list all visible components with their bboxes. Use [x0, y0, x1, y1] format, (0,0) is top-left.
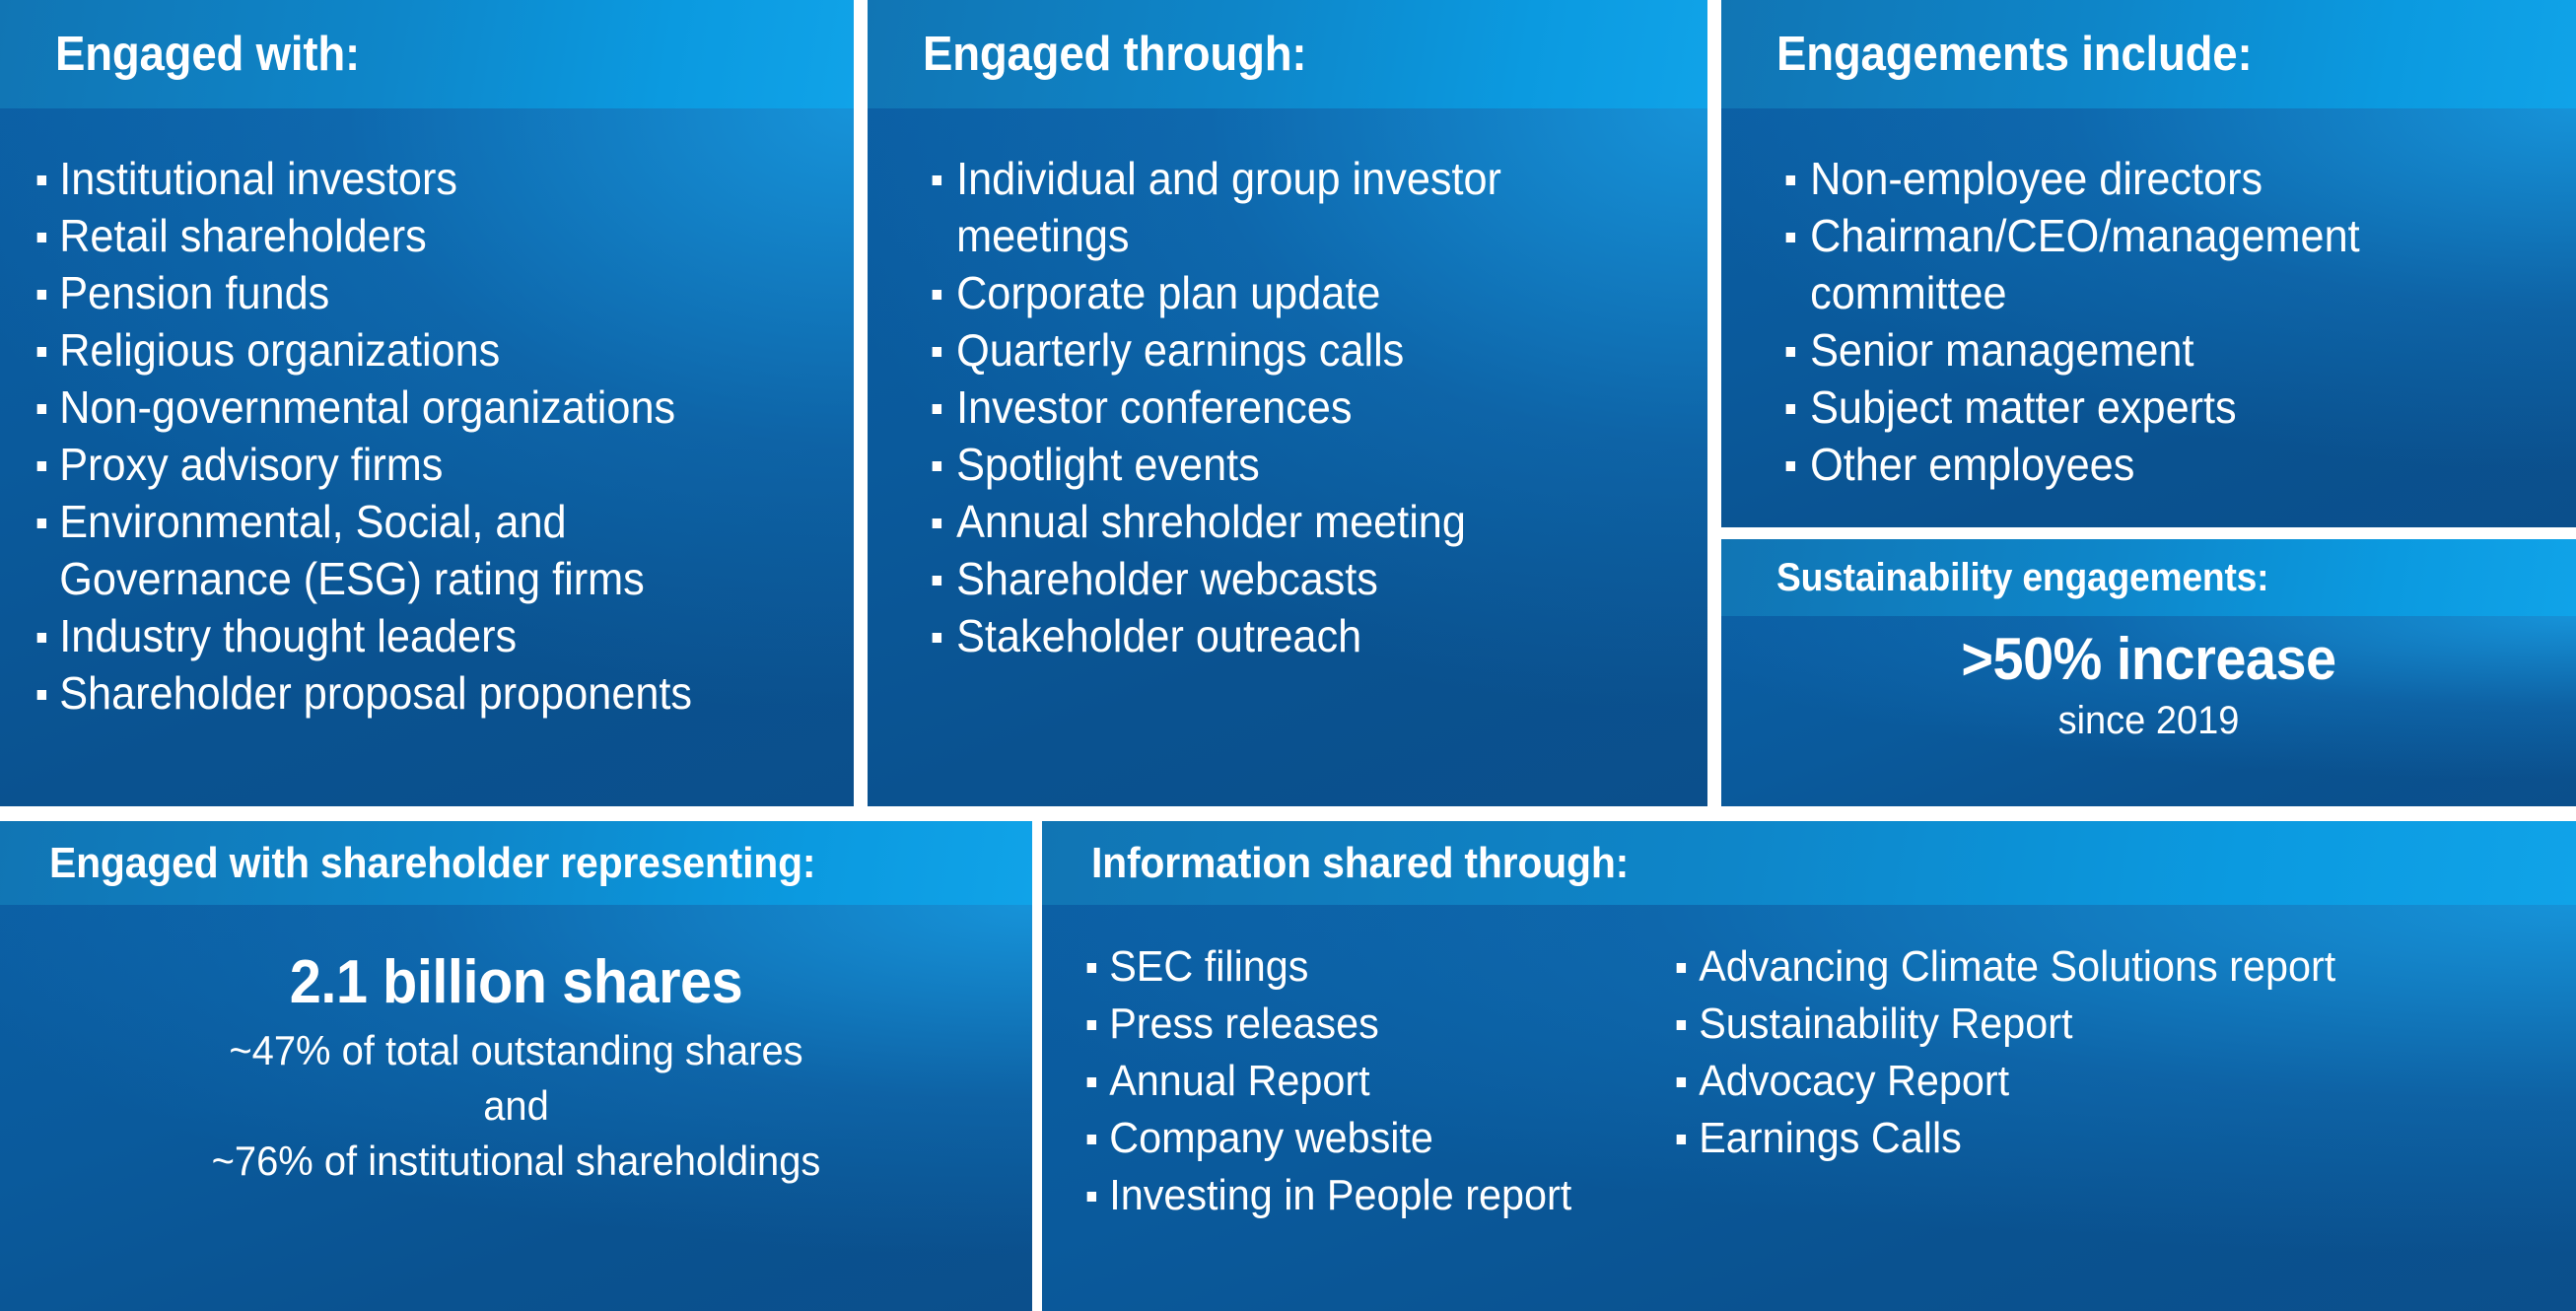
panel-engaged-through: Engaged through: Individual and group in… — [868, 0, 1707, 806]
list-item: SEC filings — [1081, 938, 1636, 996]
panel-header-information-shared: Information shared through: — [1042, 821, 2576, 905]
list-item: Earnings Calls — [1671, 1110, 2468, 1167]
list-item: Spotlight events — [927, 436, 1636, 493]
panel-title-engaged-with: Engaged with: — [55, 27, 360, 82]
list-item: Shareholder proposal proponents — [32, 664, 781, 722]
list-item: Company website — [1081, 1110, 1636, 1167]
list-item: Senior management — [1780, 321, 2515, 379]
list-item: Annual Report — [1081, 1053, 1636, 1110]
list-item: Environmental, Social, and Governance (E… — [32, 493, 781, 607]
list-item: Sustainability Report — [1671, 996, 2468, 1053]
list-item: Chairman/CEO/management committee — [1780, 207, 2515, 321]
list-item: Advocacy Report — [1671, 1053, 2468, 1110]
infographic-board: Engaged with: Institutional investors Re… — [0, 0, 2576, 1311]
list-item: Pension funds — [32, 264, 781, 321]
shares-stat-value: 2.1 billion shares — [36, 942, 997, 1023]
panel-header-sustainability: Sustainability engagements: — [1721, 539, 2576, 616]
panel-header-engaged-with: Engaged with: — [0, 0, 854, 108]
panel-engaged-with: Engaged with: Institutional investors Re… — [0, 0, 854, 806]
list-item: Advancing Climate Solutions report — [1671, 938, 2468, 996]
list-item: Quarterly earnings calls — [927, 321, 1636, 379]
list-item: Shareholder webcasts — [927, 550, 1636, 607]
panel-engagements-include: Engagements include: Non-employee direct… — [1721, 0, 2576, 527]
list-item: Religious organizations — [32, 321, 781, 379]
sustainability-stat-caption: since 2019 — [1743, 697, 2555, 744]
panel-title-engagements-include: Engagements include: — [1776, 27, 2252, 82]
list-item: Non-governmental organizations — [32, 379, 781, 436]
list-item: Subject matter experts — [1780, 379, 2515, 436]
panel-header-shareholder-representing: Engaged with shareholder representing: — [0, 821, 1032, 905]
panel-title-sustainability: Sustainability engagements: — [1776, 556, 2268, 600]
panel-header-engaged-through: Engaged through: — [868, 0, 1707, 108]
list-item: Individual and group investor meetings — [927, 150, 1636, 264]
panel-body-shareholder-representing: 2.1 billion shares ~47% of total outstan… — [0, 905, 1032, 1311]
panel-shareholder-representing: Engaged with shareholder representing: 2… — [0, 821, 1032, 1311]
list-item: Press releases — [1081, 996, 1636, 1053]
list-item: Investor conferences — [927, 379, 1636, 436]
list-item: Institutional investors — [32, 150, 781, 207]
list-item: Proxy advisory firms — [32, 436, 781, 493]
panel-body-information-shared: SEC filings Press releases Annual Report… — [1042, 905, 2576, 1311]
panel-sustainability-engagements: Sustainability engagements: >50% increas… — [1721, 539, 2576, 806]
list-engagements-include: Non-employee directors Chairman/CEO/mana… — [1780, 150, 2562, 493]
sustainability-stat-value: >50% increase — [1751, 622, 2545, 697]
list-item: Non-employee directors — [1780, 150, 2515, 207]
information-shared-column-left: SEC filings Press releases Annual Report… — [1081, 938, 1671, 1311]
shares-stat-line-2: and — [26, 1078, 1007, 1134]
list-information-shared-right: Advancing Climate Solutions report Susta… — [1671, 938, 2519, 1167]
panel-title-shareholder-representing: Engaged with shareholder representing: — [49, 839, 815, 888]
panel-body-engaged-through: Individual and group investor meetings C… — [868, 108, 1707, 806]
list-information-shared-left: SEC filings Press releases Annual Report… — [1081, 938, 1671, 1224]
panel-body-engaged-with: Institutional investors Retail sharehold… — [0, 108, 854, 806]
list-engaged-with: Institutional investors Retail sharehold… — [32, 150, 828, 722]
panel-body-sustainability: >50% increase since 2019 — [1721, 616, 2576, 806]
panel-title-information-shared: Information shared through: — [1091, 839, 1629, 888]
panel-information-shared: Information shared through: SEC filings … — [1042, 821, 2576, 1311]
panel-header-engagements-include: Engagements include: — [1721, 0, 2576, 108]
information-shared-column-right: Advancing Climate Solutions report Susta… — [1671, 938, 2519, 1311]
list-item: Annual shreholder meeting — [927, 493, 1636, 550]
list-item: Stakeholder outreach — [927, 607, 1636, 664]
panel-body-engagements-include: Non-employee directors Chairman/CEO/mana… — [1721, 108, 2576, 527]
shares-stat-line-1: ~47% of total outstanding shares — [26, 1023, 1007, 1078]
list-item: Retail shareholders — [32, 207, 781, 264]
panel-title-engaged-through: Engaged through: — [923, 27, 1306, 82]
list-item: Industry thought leaders — [32, 607, 781, 664]
list-engaged-through: Individual and group investor meetings C… — [927, 150, 1682, 664]
list-item: Other employees — [1780, 436, 2515, 493]
list-item: Investing in People report — [1081, 1167, 1636, 1224]
list-item: Corporate plan update — [927, 264, 1636, 321]
shares-stat-line-3: ~76% of institutional shareholdings — [26, 1134, 1007, 1189]
